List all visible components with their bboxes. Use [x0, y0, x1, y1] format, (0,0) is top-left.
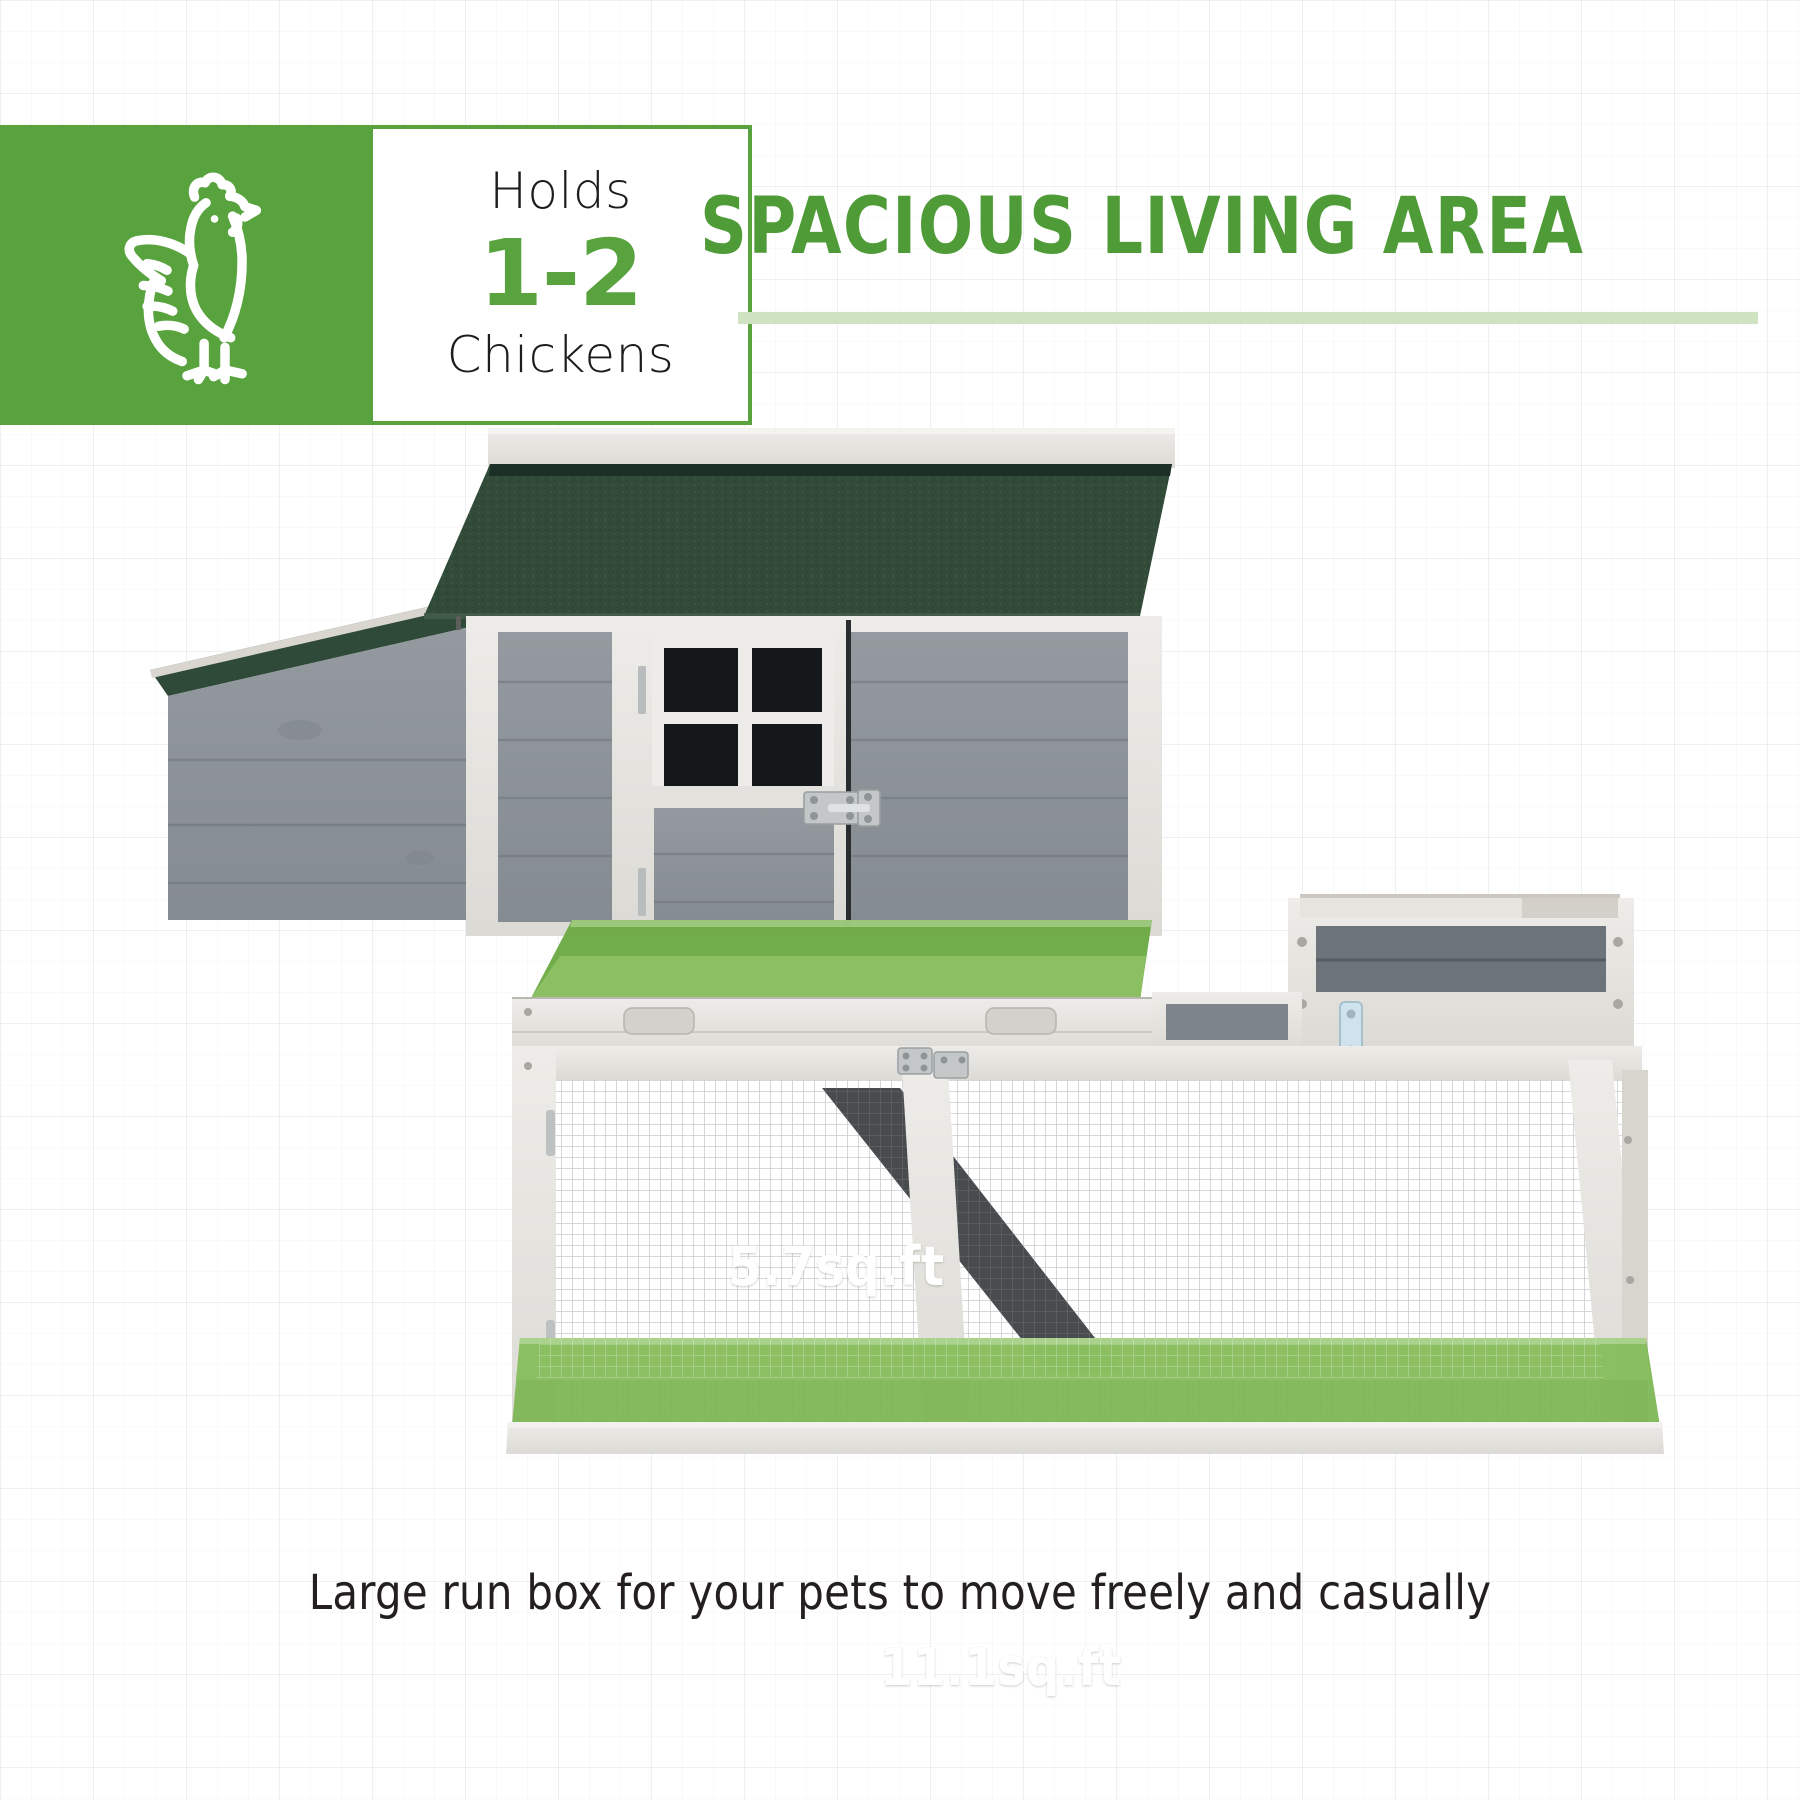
headline-block: SPACIOUS LIVING AREA: [700, 188, 1780, 324]
badge-text-panel: Holds 1-2 Chickens: [373, 125, 752, 425]
product-illustration: 5.7sq.ft 11.1sq.ft: [0, 420, 1800, 1530]
run-bottom-rail: [506, 1422, 1664, 1454]
coop-base-board: [512, 998, 1152, 1054]
page-title: SPACIOUS LIVING AREA: [700, 188, 1704, 266]
badge-line-2: Chickens: [447, 330, 675, 380]
run-area-overlay: [512, 1338, 1660, 1426]
headline-underline: [738, 312, 1758, 324]
coop-door: [636, 620, 880, 926]
run-area-label: 11.1sq.ft: [880, 1638, 1122, 1698]
coop-body: [466, 616, 1162, 936]
badge-capacity-count: 1-2: [479, 222, 642, 325]
badge-icon-panel: [0, 125, 373, 425]
door-latch: [804, 790, 880, 826]
badge-line-1: Holds: [489, 166, 631, 216]
coop-drawing: [0, 420, 1800, 1530]
coop-area-overlay: [528, 920, 1152, 1002]
chicken-icon: [92, 160, 282, 390]
coop-roof: [424, 428, 1175, 630]
planter-box: [1152, 894, 1634, 1062]
capacity-badge: Holds 1-2 Chickens: [0, 125, 752, 425]
coop-area-label: 5.7sq.ft: [728, 1235, 945, 1298]
caption-text: Large run box for your pets to move free…: [27, 1565, 1773, 1621]
